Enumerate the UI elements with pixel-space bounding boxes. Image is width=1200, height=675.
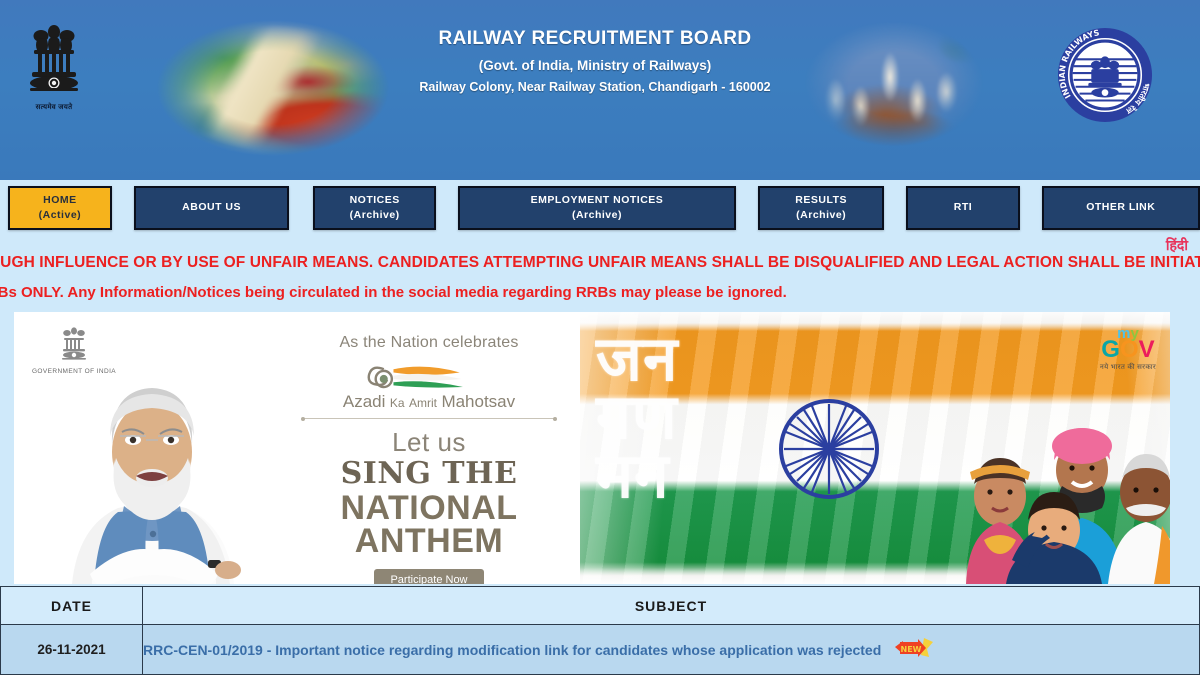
indian-railways-logo-icon: INDIAN RAILWAYS भारतीय रेल xyxy=(1056,26,1154,124)
notice-link[interactable]: RRC-CEN-01/2019 - Important notice regar… xyxy=(143,642,881,658)
nav-home[interactable]: HOME (Active) xyxy=(8,186,112,230)
nav-employment-notices-label: EMPLOYMENT NOTICES xyxy=(531,193,664,208)
row-date: 26-11-2021 xyxy=(1,625,143,675)
mygov-logo[interactable]: my GOV नये भारत की सरकार xyxy=(1100,326,1156,371)
azadi-word: Azadi xyxy=(343,392,386,411)
row-subject-cell[interactable]: RRC-CEN-01/2019 - Important notice regar… xyxy=(143,625,1200,675)
new-badge-icon: NEW xyxy=(894,637,934,663)
nav-rti-label: RTI xyxy=(954,200,972,215)
nav-about-us[interactable]: ABOUT US xyxy=(134,186,290,230)
citizens-group-photo xyxy=(940,414,1170,584)
ka-word: Ka xyxy=(390,396,405,410)
garden-path-decoration xyxy=(148,12,398,164)
nav-employment-notices[interactable]: EMPLOYMENT NOTICES (Archive) xyxy=(458,186,736,230)
table-row[interactable]: 26-11-2021 RRC-CEN-01/2019 - Important n… xyxy=(1,625,1200,675)
nav-home-label: HOME xyxy=(43,193,77,208)
mahotsav-word: Mahotsav xyxy=(441,392,515,411)
notices-table: DATE SUBJECT 26-11-2021 RRC-CEN-01/2019 … xyxy=(0,586,1200,675)
banner-celebrates-text: As the Nation celebrates xyxy=(280,334,578,352)
banner-center-text: As the Nation celebrates Azadi Ka Amrit … xyxy=(280,322,578,584)
site-header: सत्यमेव जयते RAILWAY RECRUITMENT BOARD (… xyxy=(0,0,1200,180)
mygov-gov-text: GOV xyxy=(1100,338,1156,362)
page-title: RAILWAY RECRUITMENT BOARD xyxy=(400,28,790,50)
scrolling-notice-strip: हिंदी OUGH INFLUENCE OR BY USE OF UNFAIR… xyxy=(0,234,1200,310)
government-of-india-mark: GOVERNMENT OF INDIA xyxy=(22,326,126,375)
new-badge-text: NEW xyxy=(900,645,921,654)
nav-notices-sub: (Archive) xyxy=(350,208,400,223)
nav-results[interactable]: RESULTS (Archive) xyxy=(758,186,884,230)
column-header-date: DATE xyxy=(1,587,143,625)
banner-anthem-text: ANTHEM xyxy=(280,522,578,561)
header-subtitle: (Govt. of India, Ministry of Railways) xyxy=(400,58,790,73)
nav-notices[interactable]: NOTICES (Archive) xyxy=(313,186,436,230)
banner-divider xyxy=(303,418,555,419)
marquee-line-2: RRBs ONLY. Any Information/Notices being… xyxy=(0,284,1200,301)
column-header-subject: SUBJECT xyxy=(143,587,1200,625)
azadi-ka-amrit-mahotsav-logo: Azadi Ka Amrit Mahotsav xyxy=(280,356,578,410)
header-address: Railway Colony, Near Railway Station, Ch… xyxy=(400,80,790,94)
nav-rti[interactable]: RTI xyxy=(906,186,1019,230)
ashoka-emblem-small-icon xyxy=(59,326,89,366)
table-header-row: DATE SUBJECT xyxy=(1,587,1200,625)
emblem-caption: सत्यमेव जयते xyxy=(36,103,73,112)
national-anthem-banner[interactable]: GOVERNMENT OF INDIA xyxy=(14,312,1170,584)
nav-other-link-label: OTHER LINK xyxy=(1086,200,1155,215)
banner-let-us-text: Let us xyxy=(280,427,578,458)
header-titles: RAILWAY RECRUITMENT BOARD (Govt. of Indi… xyxy=(400,28,790,94)
amrit-word: Amrit xyxy=(409,396,437,410)
marquee-line-1: OUGH INFLUENCE OR BY USE OF UNFAIR MEANS… xyxy=(0,254,1200,272)
nav-home-sub: (Active) xyxy=(39,208,82,223)
nav-employment-notices-sub: (Archive) xyxy=(572,208,622,223)
main-navigation[interactable]: HOME (Active) ABOUT US NOTICES (Archive)… xyxy=(0,182,1200,234)
azadi-logo-words: Azadi Ka Amrit Mahotsav xyxy=(280,392,578,412)
nav-notices-label: NOTICES xyxy=(350,193,400,208)
mygov-tagline: नये भारत की सरकार xyxy=(1100,364,1156,371)
hindi-language-link[interactable]: हिंदी xyxy=(1166,236,1188,255)
national-emblem: सत्यमेव जयते xyxy=(22,22,86,127)
nav-results-sub: (Archive) xyxy=(796,208,846,223)
nav-other-link[interactable]: OTHER LINK xyxy=(1042,186,1200,230)
prime-minister-photo xyxy=(32,374,272,584)
banner-sing-the-text: SING THE xyxy=(280,456,578,491)
nav-about-us-label: ABOUT US xyxy=(182,200,241,215)
participate-now-button[interactable]: Participate Now xyxy=(374,569,483,584)
ashoka-emblem-icon xyxy=(25,22,83,102)
ashoka-chakra-icon xyxy=(776,396,882,502)
workers-statue-image xyxy=(796,14,992,154)
nav-results-label: RESULTS xyxy=(795,193,847,208)
